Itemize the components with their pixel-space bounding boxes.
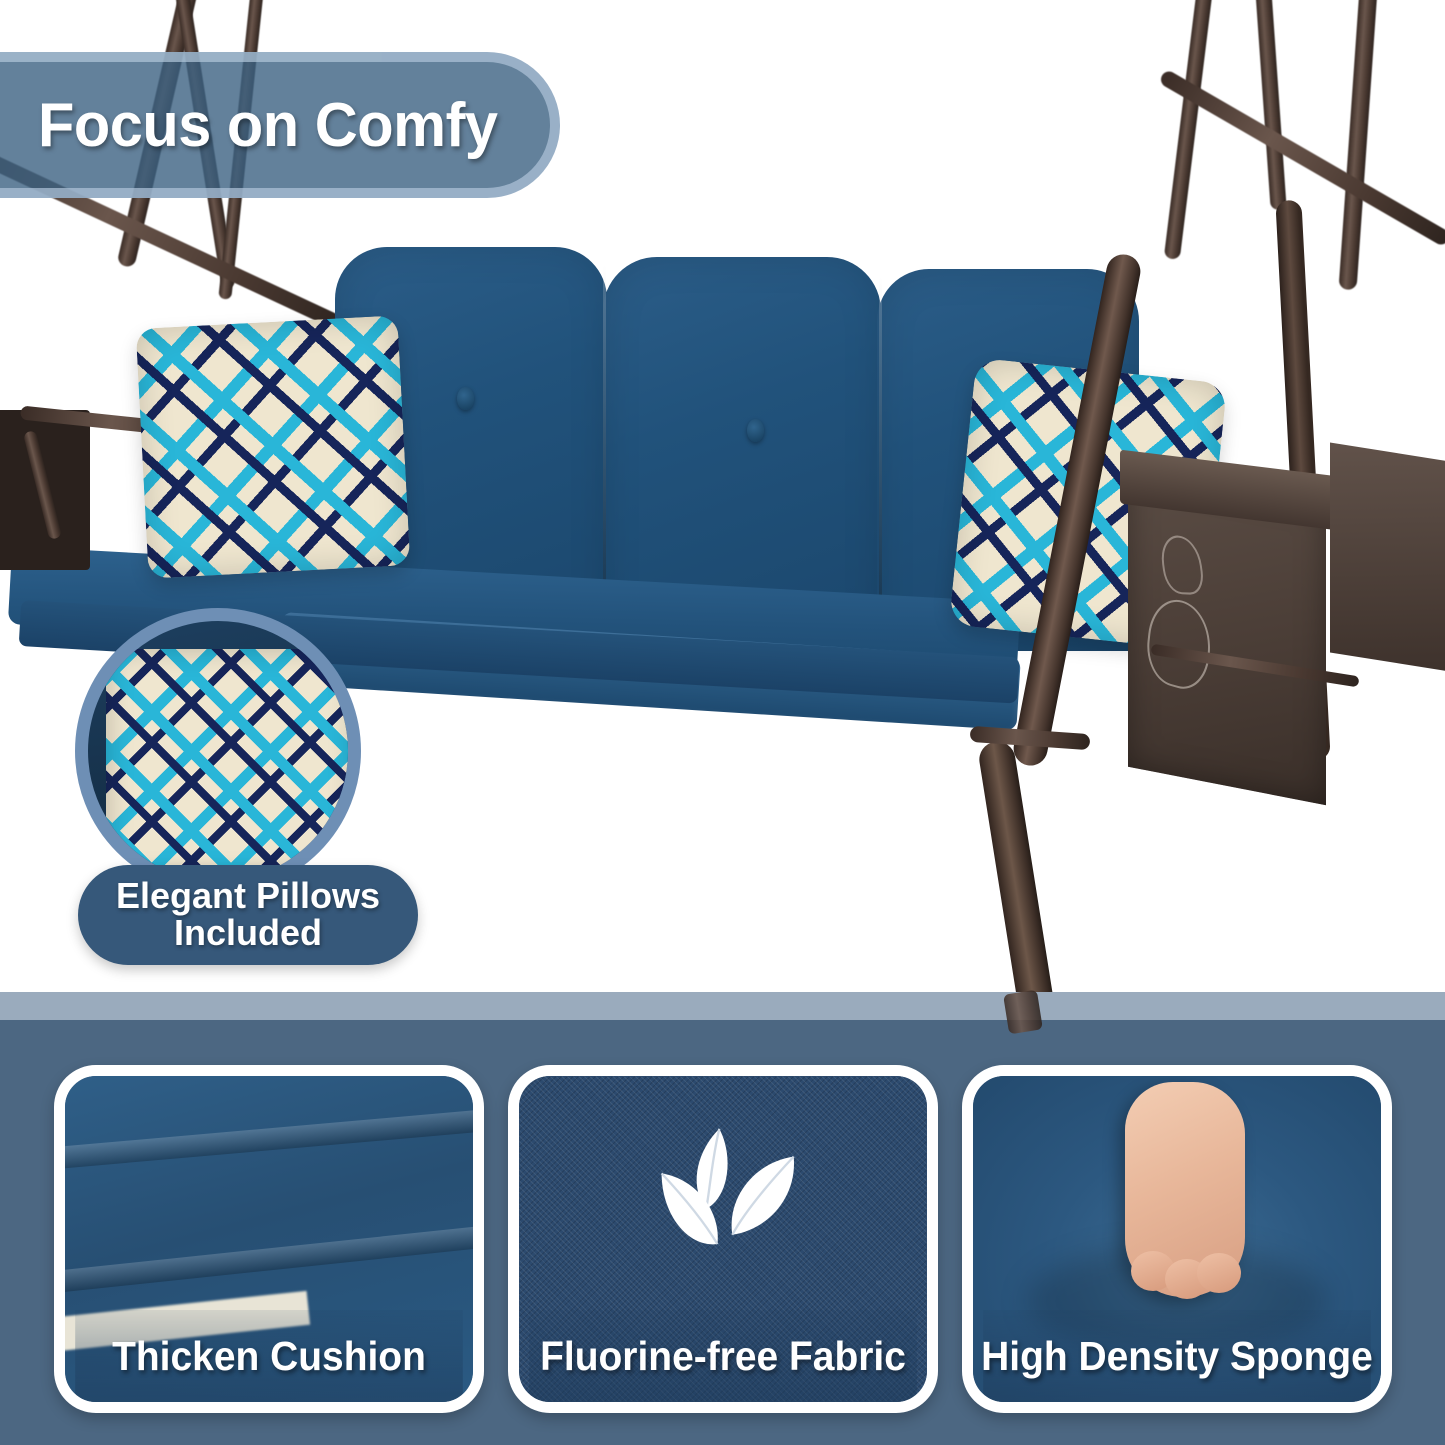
fist-icon	[1125, 1082, 1245, 1297]
pillow-zoom-callout	[75, 608, 361, 894]
feature-panel-label: High Density Sponge	[983, 1310, 1371, 1402]
hero-title-banner: Focus on Comfy	[0, 52, 560, 198]
feature-panel-label: Thicken Cushion	[75, 1310, 463, 1402]
callout-label-line2: Included	[174, 915, 322, 952]
divider-band-light	[0, 992, 1445, 1020]
feature-panel-high-density-sponge[interactable]: High Density Sponge	[962, 1065, 1392, 1413]
feature-panel-thicken-cushion[interactable]: Thicken Cushion	[54, 1065, 484, 1413]
tuft-button-center	[747, 419, 764, 442]
callout-label-line1: Elegant Pillows	[116, 878, 380, 915]
frame-leg-right-lower	[977, 739, 1059, 992]
feature-panel-fluorine-free-fabric[interactable]: Fluorine-free Fabric	[508, 1065, 938, 1413]
frame-pole-canopy-right3	[1339, 0, 1380, 290]
frame-pole-canopy-right	[1164, 0, 1216, 260]
callout-label-badge: Elegant Pillows Included	[78, 865, 418, 965]
hero-title-text: Focus on Comfy	[38, 90, 498, 161]
back-cushion-seam-2	[879, 277, 882, 649]
feature-panels: Thicken Cushion Fluorine-free Fabric	[0, 1020, 1445, 1445]
accent-pillow-left	[136, 315, 411, 578]
side-table-right-outer	[1330, 442, 1445, 671]
leaf-icon	[630, 1112, 816, 1298]
callout-ring	[75, 608, 361, 894]
hero-product-photo: Focus on Comfy Elegant Pillows Included	[0, 0, 1445, 992]
marketing-infographic: Focus on Comfy Elegant Pillows Included …	[0, 0, 1445, 1445]
callout-pillow-image	[106, 649, 356, 879]
tuft-button-left	[457, 387, 474, 410]
frame-pole-canopy-right2	[1253, 0, 1286, 210]
feature-panel-label: Fluorine-free Fabric	[529, 1310, 917, 1402]
